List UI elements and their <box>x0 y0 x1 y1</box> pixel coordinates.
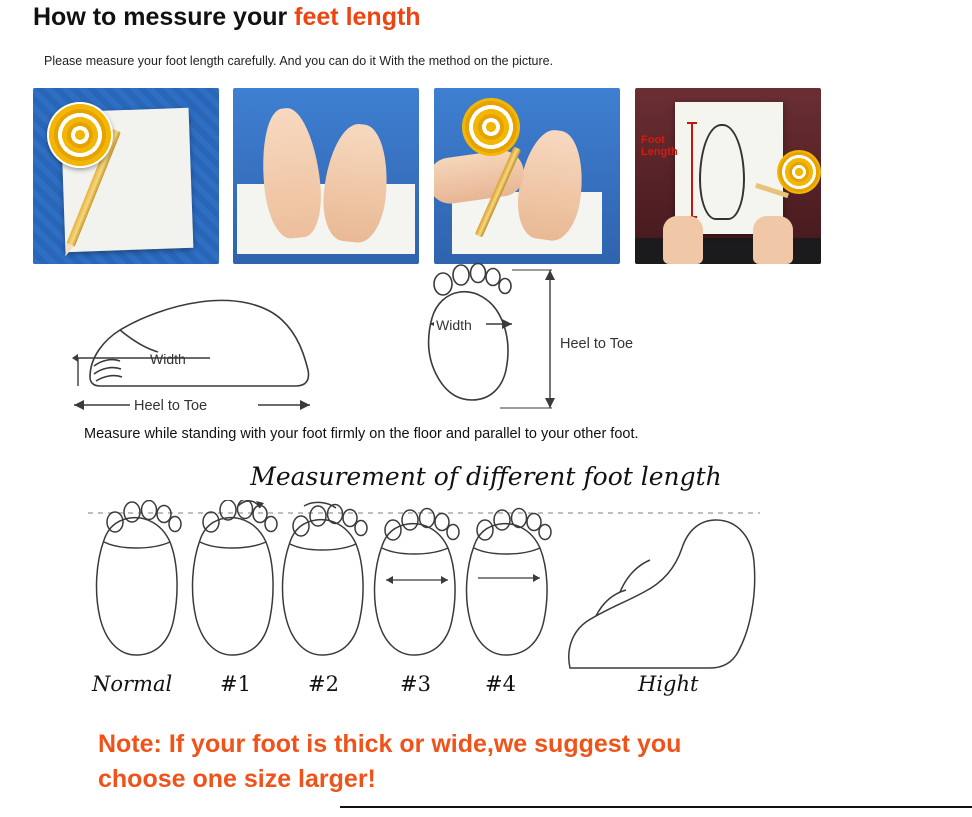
side-view-foot-outline <box>90 300 309 386</box>
page-subtitle: Please measure your foot length carefull… <box>44 54 553 68</box>
foot-types-svg <box>60 500 860 675</box>
foot-outline <box>699 124 745 220</box>
left-hand <box>663 216 703 264</box>
side-width-label: Width <box>150 351 186 367</box>
infographic-page: How to messure your feet length Please m… <box>0 0 972 817</box>
foot-normal <box>97 501 181 656</box>
photo-lollipop-and-pencil-on-paper <box>33 88 219 264</box>
page-title-main: How to messure your <box>33 3 294 31</box>
photo-holding-traced-paper: Foot Length <box>635 88 821 264</box>
foot-type-illustrations <box>60 500 860 670</box>
foot-length-label: Foot Length <box>641 134 678 158</box>
side-width-dimension <box>72 354 210 386</box>
foot-type-3 <box>375 509 459 656</box>
bottom-note-line2: choose one size larger! <box>98 762 898 797</box>
photo-strip: Foot Length <box>33 88 833 266</box>
diagram-svg: Width Heel to Toe <box>60 262 680 422</box>
lollipop-icon <box>47 102 113 168</box>
side-length-label: Heel to Toe <box>134 398 207 414</box>
sole-length-dimension <box>500 270 555 408</box>
foot-type-1 <box>193 500 277 655</box>
foot-type-2 <box>283 502 367 655</box>
bottom-divider <box>340 806 972 808</box>
foot-type-labels: Normal #1 #2 #3 #4 Hight <box>60 672 860 702</box>
foot-label-4: #4 <box>485 672 516 696</box>
lollipop-icon <box>777 150 821 194</box>
foot-label-2: #2 <box>308 672 339 696</box>
foot-label-hight: Hight <box>638 672 698 696</box>
foot-label-normal: Normal <box>92 672 172 696</box>
foot-label-1: #1 <box>220 672 251 696</box>
length-arrow-icon <box>691 122 693 218</box>
foot-measurement-diagrams: Width Heel to Toe <box>60 262 680 422</box>
sole-width-label: Width <box>436 317 472 333</box>
section-heading: Measurement of different foot length <box>0 462 972 491</box>
foot-label-3: #3 <box>400 672 431 696</box>
measure-instruction: Measure while standing with your foot fi… <box>84 426 639 442</box>
photo-bare-feet-on-white-paper <box>233 88 419 264</box>
bottom-note-line1: Note: If your foot is thick or wide,we s… <box>98 727 898 762</box>
sole-length-label: Heel to Toe <box>560 336 633 352</box>
page-title-accent: feet length <box>294 3 420 31</box>
foot-type-4 <box>467 509 551 656</box>
page-title: How to messure your feet length <box>33 3 421 32</box>
right-hand <box>753 216 793 264</box>
bottom-note: Note: If your foot is thick or wide,we s… <box>98 727 898 797</box>
foot-hight-profile <box>569 520 755 668</box>
lollipop-icon <box>462 98 520 156</box>
photo-marking-foot-with-pencil <box>434 88 620 264</box>
